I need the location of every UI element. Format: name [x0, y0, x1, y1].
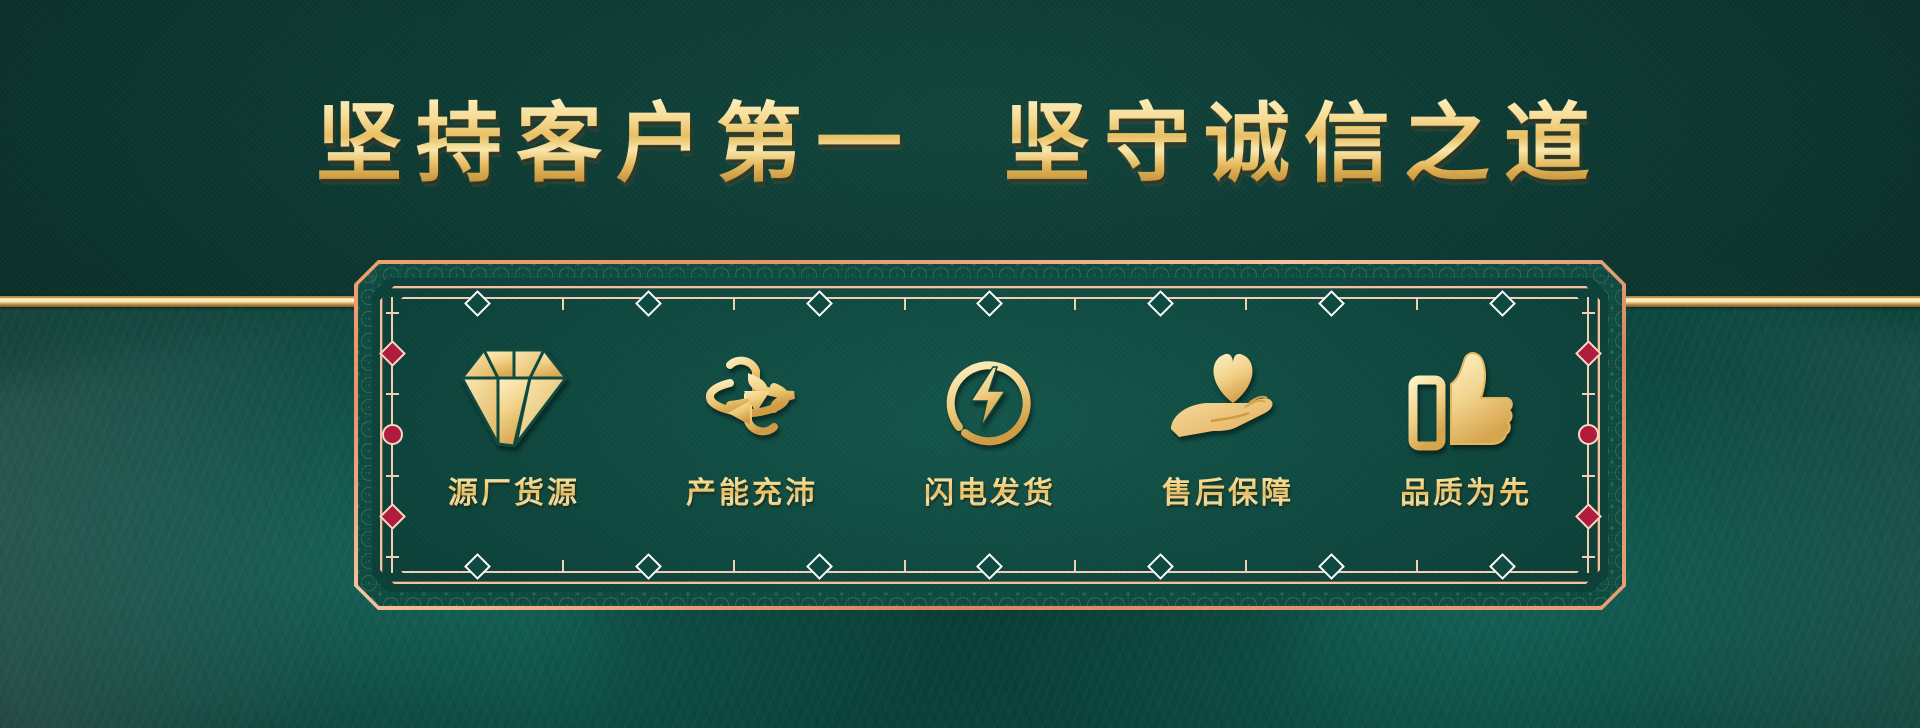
feature-item-quality-first[interactable]: 品质为先	[1366, 330, 1566, 512]
rail-dot-marker-red	[1578, 424, 1599, 445]
rail-tick	[562, 297, 564, 310]
feature-label: 闪电发货	[924, 468, 1056, 512]
banner-title: 坚持客户第一 坚守诚信之道	[0, 96, 1920, 192]
feature-label: 品质为先	[1400, 468, 1532, 512]
feature-item-capacity[interactable]: 产能充沛	[652, 330, 852, 512]
rail-tick	[1416, 297, 1418, 310]
banner-stage: 坚持客户第一 坚守诚信之道	[0, 0, 1920, 728]
rail-dot-marker-red	[382, 424, 403, 445]
rail-tick	[386, 475, 399, 477]
rail-tick	[1582, 556, 1595, 558]
card-right-diamond-column	[1581, 297, 1595, 573]
card-bottom-tick-row	[391, 560, 1589, 573]
card-left-diamond-column	[385, 297, 399, 573]
rail-tick	[1582, 393, 1595, 395]
feature-item-fast-shipping[interactable]: 闪电发货	[890, 330, 1090, 512]
rail-tick	[1074, 560, 1076, 573]
card-top-tick-row	[391, 297, 1589, 310]
feature-label: 源厂货源	[448, 468, 580, 512]
feature-label: 产能充沛	[686, 468, 818, 512]
rail-tick	[733, 297, 735, 310]
thumbs-up-icon	[1407, 330, 1525, 462]
feature-item-source-factory[interactable]: 源厂货源	[414, 330, 614, 512]
rail-tick	[1582, 475, 1595, 477]
rail-tick	[1416, 560, 1418, 573]
diamond-gem-icon	[458, 330, 570, 462]
lightning-bolt-icon	[935, 330, 1045, 462]
feature-item-after-sales[interactable]: 售后保障	[1128, 330, 1328, 512]
rail-tick	[904, 560, 906, 573]
hand-heart-icon	[1165, 330, 1291, 462]
feature-label: 售后保障	[1162, 468, 1294, 512]
rail-tick	[386, 312, 399, 314]
rail-tick	[904, 297, 906, 310]
rail-tick	[1582, 312, 1595, 314]
feature-card: 源厂货源	[354, 260, 1626, 610]
rail-tick	[1245, 297, 1247, 310]
rail-tick	[386, 556, 399, 558]
rail-tick	[562, 560, 564, 573]
rail-tick	[1074, 297, 1076, 310]
rail-tick	[733, 560, 735, 573]
rotate-cycle-icon	[694, 330, 810, 462]
feature-list: 源厂货源	[414, 330, 1566, 545]
rail-tick	[1245, 560, 1247, 573]
rail-tick	[386, 393, 399, 395]
